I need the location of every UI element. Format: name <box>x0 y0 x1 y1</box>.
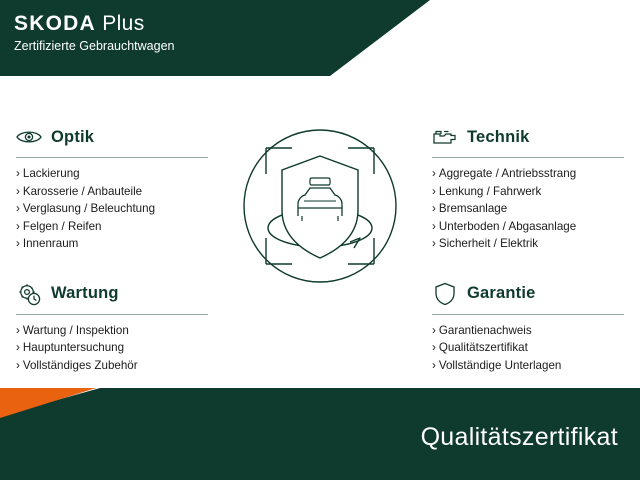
list-item-label: Garantienachweis <box>439 324 532 337</box>
gear-clock-icon <box>16 281 42 307</box>
shield-icon <box>432 281 458 307</box>
list-item-label: Bremsanlage <box>439 202 507 215</box>
section-garantie: Garantie ›Garantienachweis ›Qualitätszer… <box>432 279 624 375</box>
engine-icon <box>432 124 458 150</box>
list-item-label: Unterboden / Abgasanlage <box>439 220 576 233</box>
chevron-icon: › <box>16 324 20 337</box>
list-item-label: Lenkung / Fahrwerk <box>439 185 541 198</box>
left-column: Optik ›Lackierung ›Karosserie / Anbautei… <box>16 122 208 396</box>
section-garantie-header: Garantie <box>432 279 624 309</box>
list-item: ›Karosserie / Anbauteile <box>16 183 208 201</box>
chevron-icon: › <box>432 220 436 233</box>
brand-name: SKODA Plus <box>14 12 175 36</box>
list-item-label: Qualitätszertifikat <box>439 341 528 354</box>
certificate-page: SKODA Plus Zertifizierte Gebrauchtwagen … <box>0 0 640 480</box>
list-item-label: Karosserie / Anbauteile <box>23 185 142 198</box>
right-column: Technik ›Aggregate / Antriebsstrang ›Len… <box>432 122 624 396</box>
list-item-label: Vollständiges Zubehör <box>23 359 138 372</box>
eye-icon <box>16 124 42 150</box>
list-item-label: Felgen / Reifen <box>23 220 102 233</box>
section-wartung: Wartung ›Wartung / Inspektion ›Hauptunte… <box>16 279 208 375</box>
section-wartung-title: Wartung <box>51 284 119 303</box>
list-item: ›Felgen / Reifen <box>16 218 208 236</box>
brand-name-primary: SKODA <box>14 12 96 35</box>
chevron-icon: › <box>432 202 436 215</box>
chevron-icon: › <box>432 167 436 180</box>
chevron-icon: › <box>432 359 436 372</box>
list-item: ›Garantienachweis <box>432 322 624 340</box>
list-item-label: Wartung / Inspektion <box>23 324 129 337</box>
list-item: ›Qualitätszertifikat <box>432 339 624 357</box>
chevron-icon: › <box>16 359 20 372</box>
divider <box>432 314 624 315</box>
divider <box>432 157 624 158</box>
chevron-icon: › <box>432 185 436 198</box>
list-item: ›Bremsanlage <box>432 200 624 218</box>
list-item: ›Verglasung / Beleuchtung <box>16 200 208 218</box>
list-item: ›Sicherheit / Elektrik <box>432 235 624 253</box>
list-item: ›Aggregate / Antriebsstrang <box>432 165 624 183</box>
brand-logo: SKODA Plus Zertifizierte Gebrauchtwagen <box>14 12 175 54</box>
list-item-label: Hauptuntersuchung <box>23 341 124 354</box>
section-garantie-title: Garantie <box>467 284 536 303</box>
section-technik-header: Technik <box>432 122 624 152</box>
chevron-icon: › <box>16 341 20 354</box>
chevron-icon: › <box>16 167 20 180</box>
section-optik-title: Optik <box>51 128 94 147</box>
chevron-icon: › <box>16 237 20 250</box>
footer-title: Qualitätszertifikat <box>421 423 618 452</box>
list-item-label: Vollständige Unterlagen <box>439 359 561 372</box>
section-optik-header: Optik <box>16 122 208 152</box>
chevron-icon: › <box>16 220 20 233</box>
list-item-label: Aggregate / Antriebsstrang <box>439 167 576 180</box>
certified-vehicle-emblem <box>232 118 408 294</box>
list-item: ›Wartung / Inspektion <box>16 322 208 340</box>
list-item-label: Innenraum <box>23 237 78 250</box>
list-item: ›Vollständiges Zubehör <box>16 357 208 375</box>
list-item-label: Lackierung <box>23 167 80 180</box>
chevron-icon: › <box>16 202 20 215</box>
section-technik: Technik ›Aggregate / Antriebsstrang ›Len… <box>432 122 624 253</box>
section-wartung-header: Wartung <box>16 279 208 309</box>
chevron-icon: › <box>432 324 436 337</box>
chevron-icon: › <box>16 185 20 198</box>
list-item: ›Lackierung <box>16 165 208 183</box>
list-item-label: Sicherheit / Elektrik <box>439 237 538 250</box>
chevron-icon: › <box>432 341 436 354</box>
list-item: ›Unterboden / Abgasanlage <box>432 218 624 236</box>
chevron-icon: › <box>432 237 436 250</box>
list-item-label: Verglasung / Beleuchtung <box>23 202 155 215</box>
divider <box>16 314 208 315</box>
divider <box>16 157 208 158</box>
list-item: ›Hauptuntersuchung <box>16 339 208 357</box>
list-item: ›Lenkung / Fahrwerk <box>432 183 624 201</box>
brand-tagline: Zertifizierte Gebrauchtwagen <box>14 38 175 54</box>
brand-name-secondary: Plus <box>102 12 144 35</box>
list-item: ›Innenraum <box>16 235 208 253</box>
section-optik: Optik ›Lackierung ›Karosserie / Anbautei… <box>16 122 208 253</box>
section-technik-title: Technik <box>467 128 530 147</box>
list-item: ›Vollständige Unterlagen <box>432 357 624 375</box>
